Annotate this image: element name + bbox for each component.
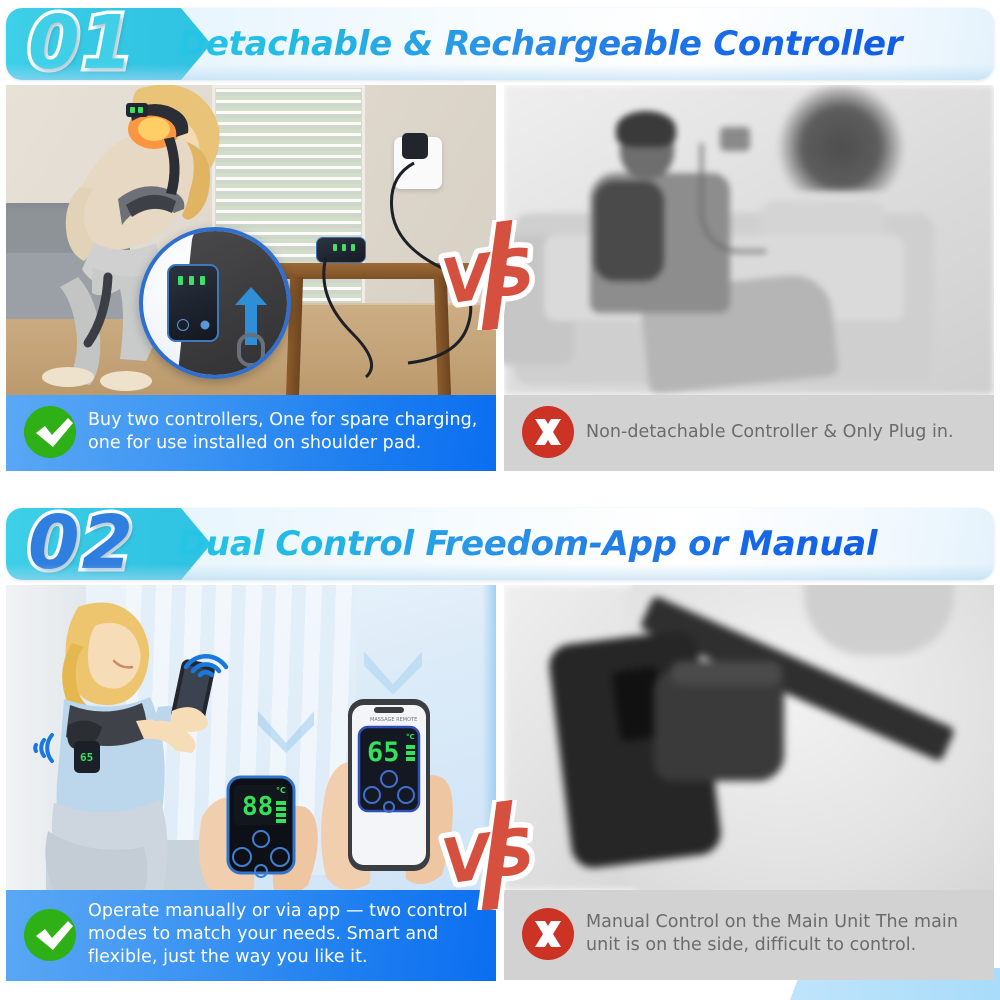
section-02-bad-caption: Manual Control on the Main Unit The main…: [504, 890, 994, 980]
section-01-header: 01 Detachable & Rechargeable Controller …: [6, 8, 994, 80]
section-02-title-text: Dual Control Freedom-App or Manual: [178, 524, 877, 564]
section-01-good-panel: Buy two controllers, One for spare charg…: [6, 85, 496, 471]
svg-text:88: 88: [242, 792, 273, 822]
section-01-good-caption: Buy two controllers, One for spare charg…: [6, 395, 496, 471]
check-icon: [24, 909, 76, 961]
cross-icon: [522, 406, 574, 458]
hand-reaching-main-unit-scene: [504, 585, 994, 890]
section-02-title: Dual Control Freedom-App or Manual Dual …: [178, 508, 980, 580]
wifi-signal-icon-shoulder: [22, 725, 68, 771]
infographic-page: 01 Detachable & Rechargeable Controller …: [0, 0, 1000, 1000]
section-02-header: 02 Dual Control Freedom-App or Manual Du…: [6, 508, 994, 580]
section-02-bad-panel: Manual Control on the Main Unit The main…: [504, 585, 994, 981]
section-01: 01 Detachable & Rechargeable Controller …: [0, 8, 1000, 471]
section-01-number: 01: [28, 8, 135, 80]
hand-holding-controller: 88 °C: [192, 747, 322, 890]
section-01-bad-photo: [504, 85, 994, 395]
section-01-bad-panel: Non-detachable Controller & Only Plug in…: [504, 85, 994, 471]
charging-cable: [306, 155, 496, 385]
detach-arrow-icon: [229, 279, 277, 367]
man-tethered-scene: [504, 85, 994, 395]
section-02: 02 Dual Control Freedom-App or Manual Du…: [0, 508, 1000, 981]
wifi-signal-icon-phone: [178, 637, 234, 681]
section-01-title: Detachable & Rechargeable Controller Det…: [178, 8, 980, 80]
woman-app-control-scene: 65: [6, 585, 496, 890]
section-01-bad-caption: Non-detachable Controller & Only Plug in…: [504, 395, 994, 471]
hand-holding-phone: MASSAGE REMOTE 65 °C: [318, 693, 458, 890]
section-02-good-text: Operate manually or via app — two contro…: [88, 900, 488, 969]
section-01-title-text: Detachable & Rechargeable Controller: [178, 24, 902, 64]
section-01-good-photo: [6, 85, 496, 395]
cross-icon: [522, 908, 574, 960]
section-02-good-photo: 65: [6, 585, 496, 890]
woman-shoulder-massager-scene: [6, 85, 496, 395]
section-02-comparison-row: 65: [0, 585, 1000, 981]
section-01-good-text: Buy two controllers, One for spare charg…: [88, 409, 488, 455]
controller-device: [167, 264, 219, 342]
svg-text:°C: °C: [406, 733, 415, 741]
section-02-number: 02: [28, 508, 135, 580]
down-chevron-icon-2: [362, 647, 424, 695]
section-01-comparison-row: Buy two controllers, One for spare charg…: [0, 85, 1000, 471]
section-02-bad-text: Manual Control on the Main Unit The main…: [586, 911, 986, 957]
svg-text:65: 65: [367, 737, 400, 768]
svg-text:65: 65: [80, 751, 93, 764]
section-02-good-panel: 65: [6, 585, 496, 981]
detachable-controller-inset: [139, 227, 291, 379]
svg-text:MASSAGE REMOTE: MASSAGE REMOTE: [370, 717, 417, 723]
section-01-bad-text: Non-detachable Controller & Only Plug in…: [586, 421, 954, 444]
section-02-bad-photo: [504, 585, 994, 890]
svg-text:°C: °C: [276, 786, 286, 795]
check-icon: [24, 406, 76, 458]
section-02-good-caption: Operate manually or via app — two contro…: [6, 890, 496, 981]
